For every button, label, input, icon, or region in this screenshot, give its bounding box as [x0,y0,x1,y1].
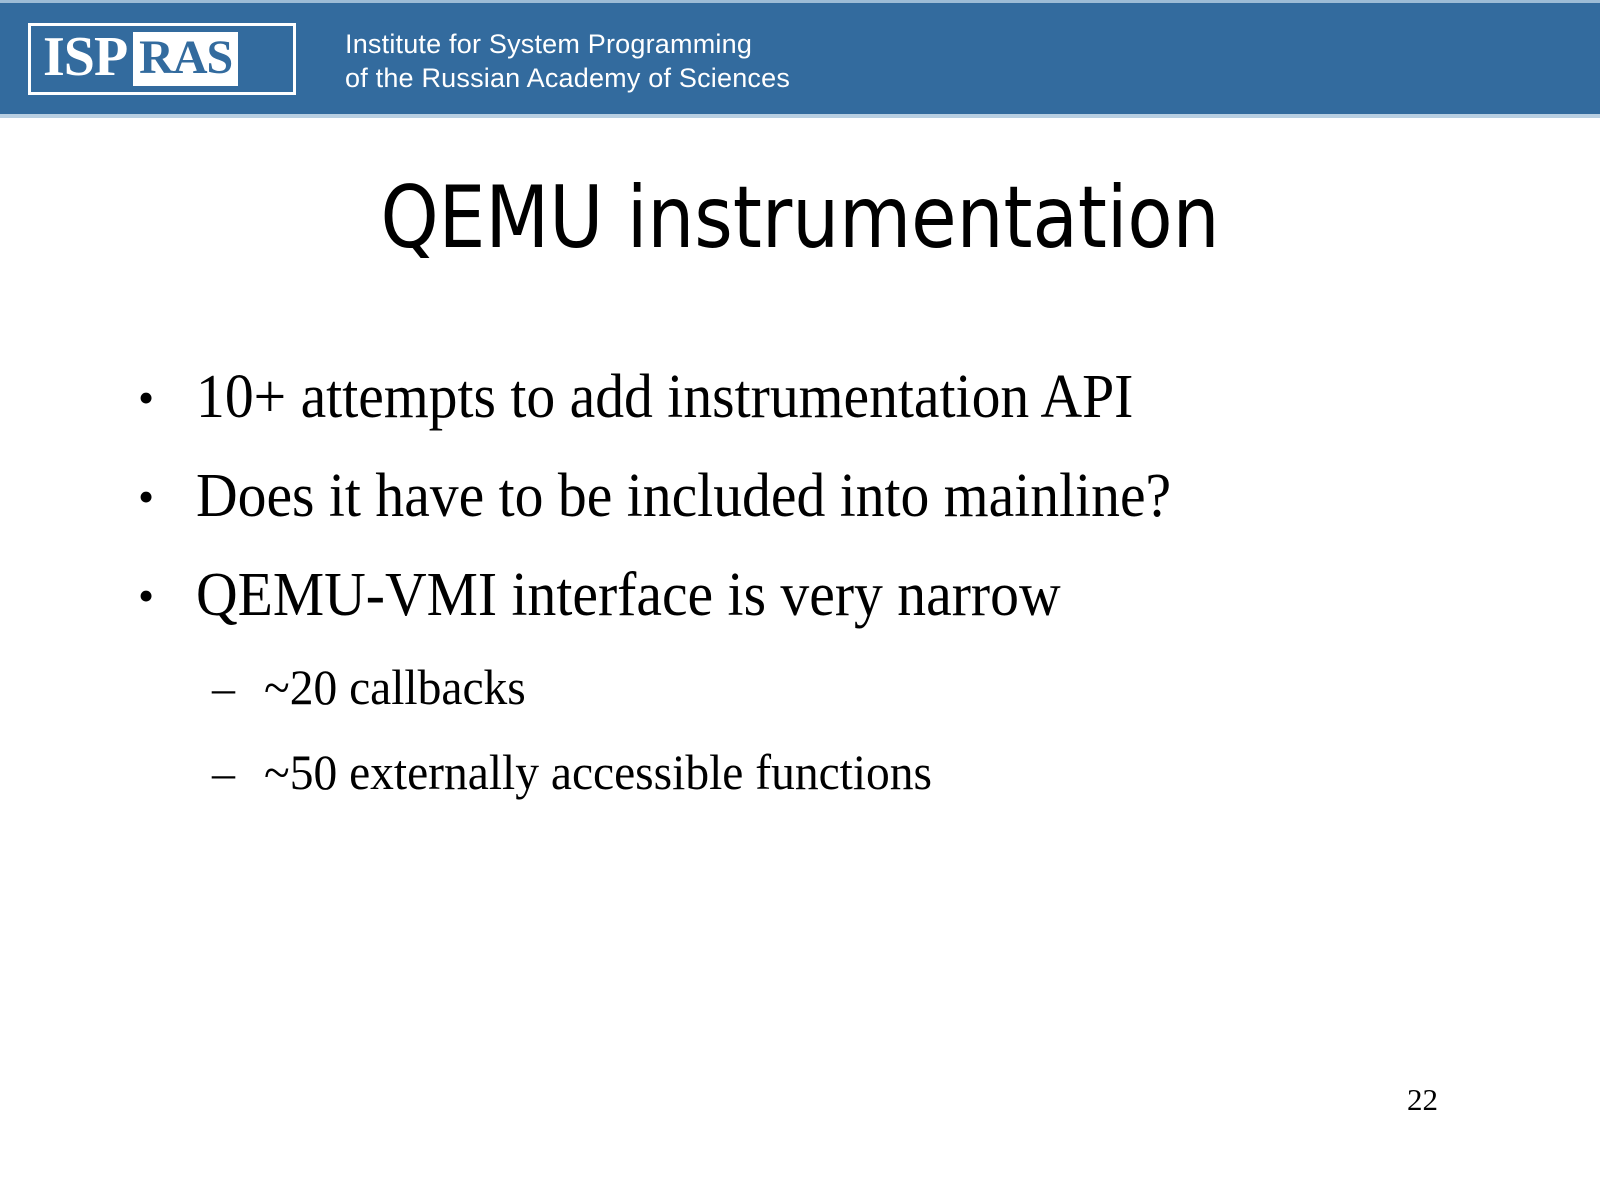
bullet-item: • 10+ attempts to add instrumentation AP… [0,348,1600,447]
bullet-item: • QEMU-VMI interface is very narrow [0,546,1600,645]
institute-line-1: Institute for System Programming [345,27,790,61]
logo-isp-text: ISP [31,29,127,89]
bullet-text: QEMU-VMI interface is very narrow [196,546,1061,645]
bullet-item: • Does it have to be included into mainl… [0,447,1600,546]
page-number: 22 [1407,1082,1438,1118]
sub-bullet-text: ~50 externally accessible functions [264,730,932,815]
sub-bullet-marker: – [212,730,235,815]
institute-name: Institute for System Programming of the … [345,27,790,95]
logo-ras-text: RAS [139,34,232,82]
bullet-marker: • [138,546,154,645]
institute-line-2: of the Russian Academy of Sciences [345,61,790,95]
sub-bullet-item: – ~50 externally accessible functions [0,730,1600,815]
bullet-marker: • [138,447,154,546]
bullet-text: 10+ attempts to add instrumentation API [196,348,1133,447]
slide-title: QEMU instrumentation [112,168,1488,268]
ispras-logo: ISP RAS [28,23,296,95]
bullet-text: Does it have to be included into mainlin… [196,447,1171,546]
header-banner: ISP RAS Institute for System Programming… [0,0,1600,118]
sub-bullet-text: ~20 callbacks [264,645,526,730]
logo-ras-box: RAS [133,32,238,86]
slide-body: • 10+ attempts to add instrumentation AP… [0,348,1600,815]
bullet-marker: • [138,348,154,447]
sub-bullet-marker: – [212,645,235,730]
sub-bullet-item: – ~20 callbacks [0,645,1600,730]
